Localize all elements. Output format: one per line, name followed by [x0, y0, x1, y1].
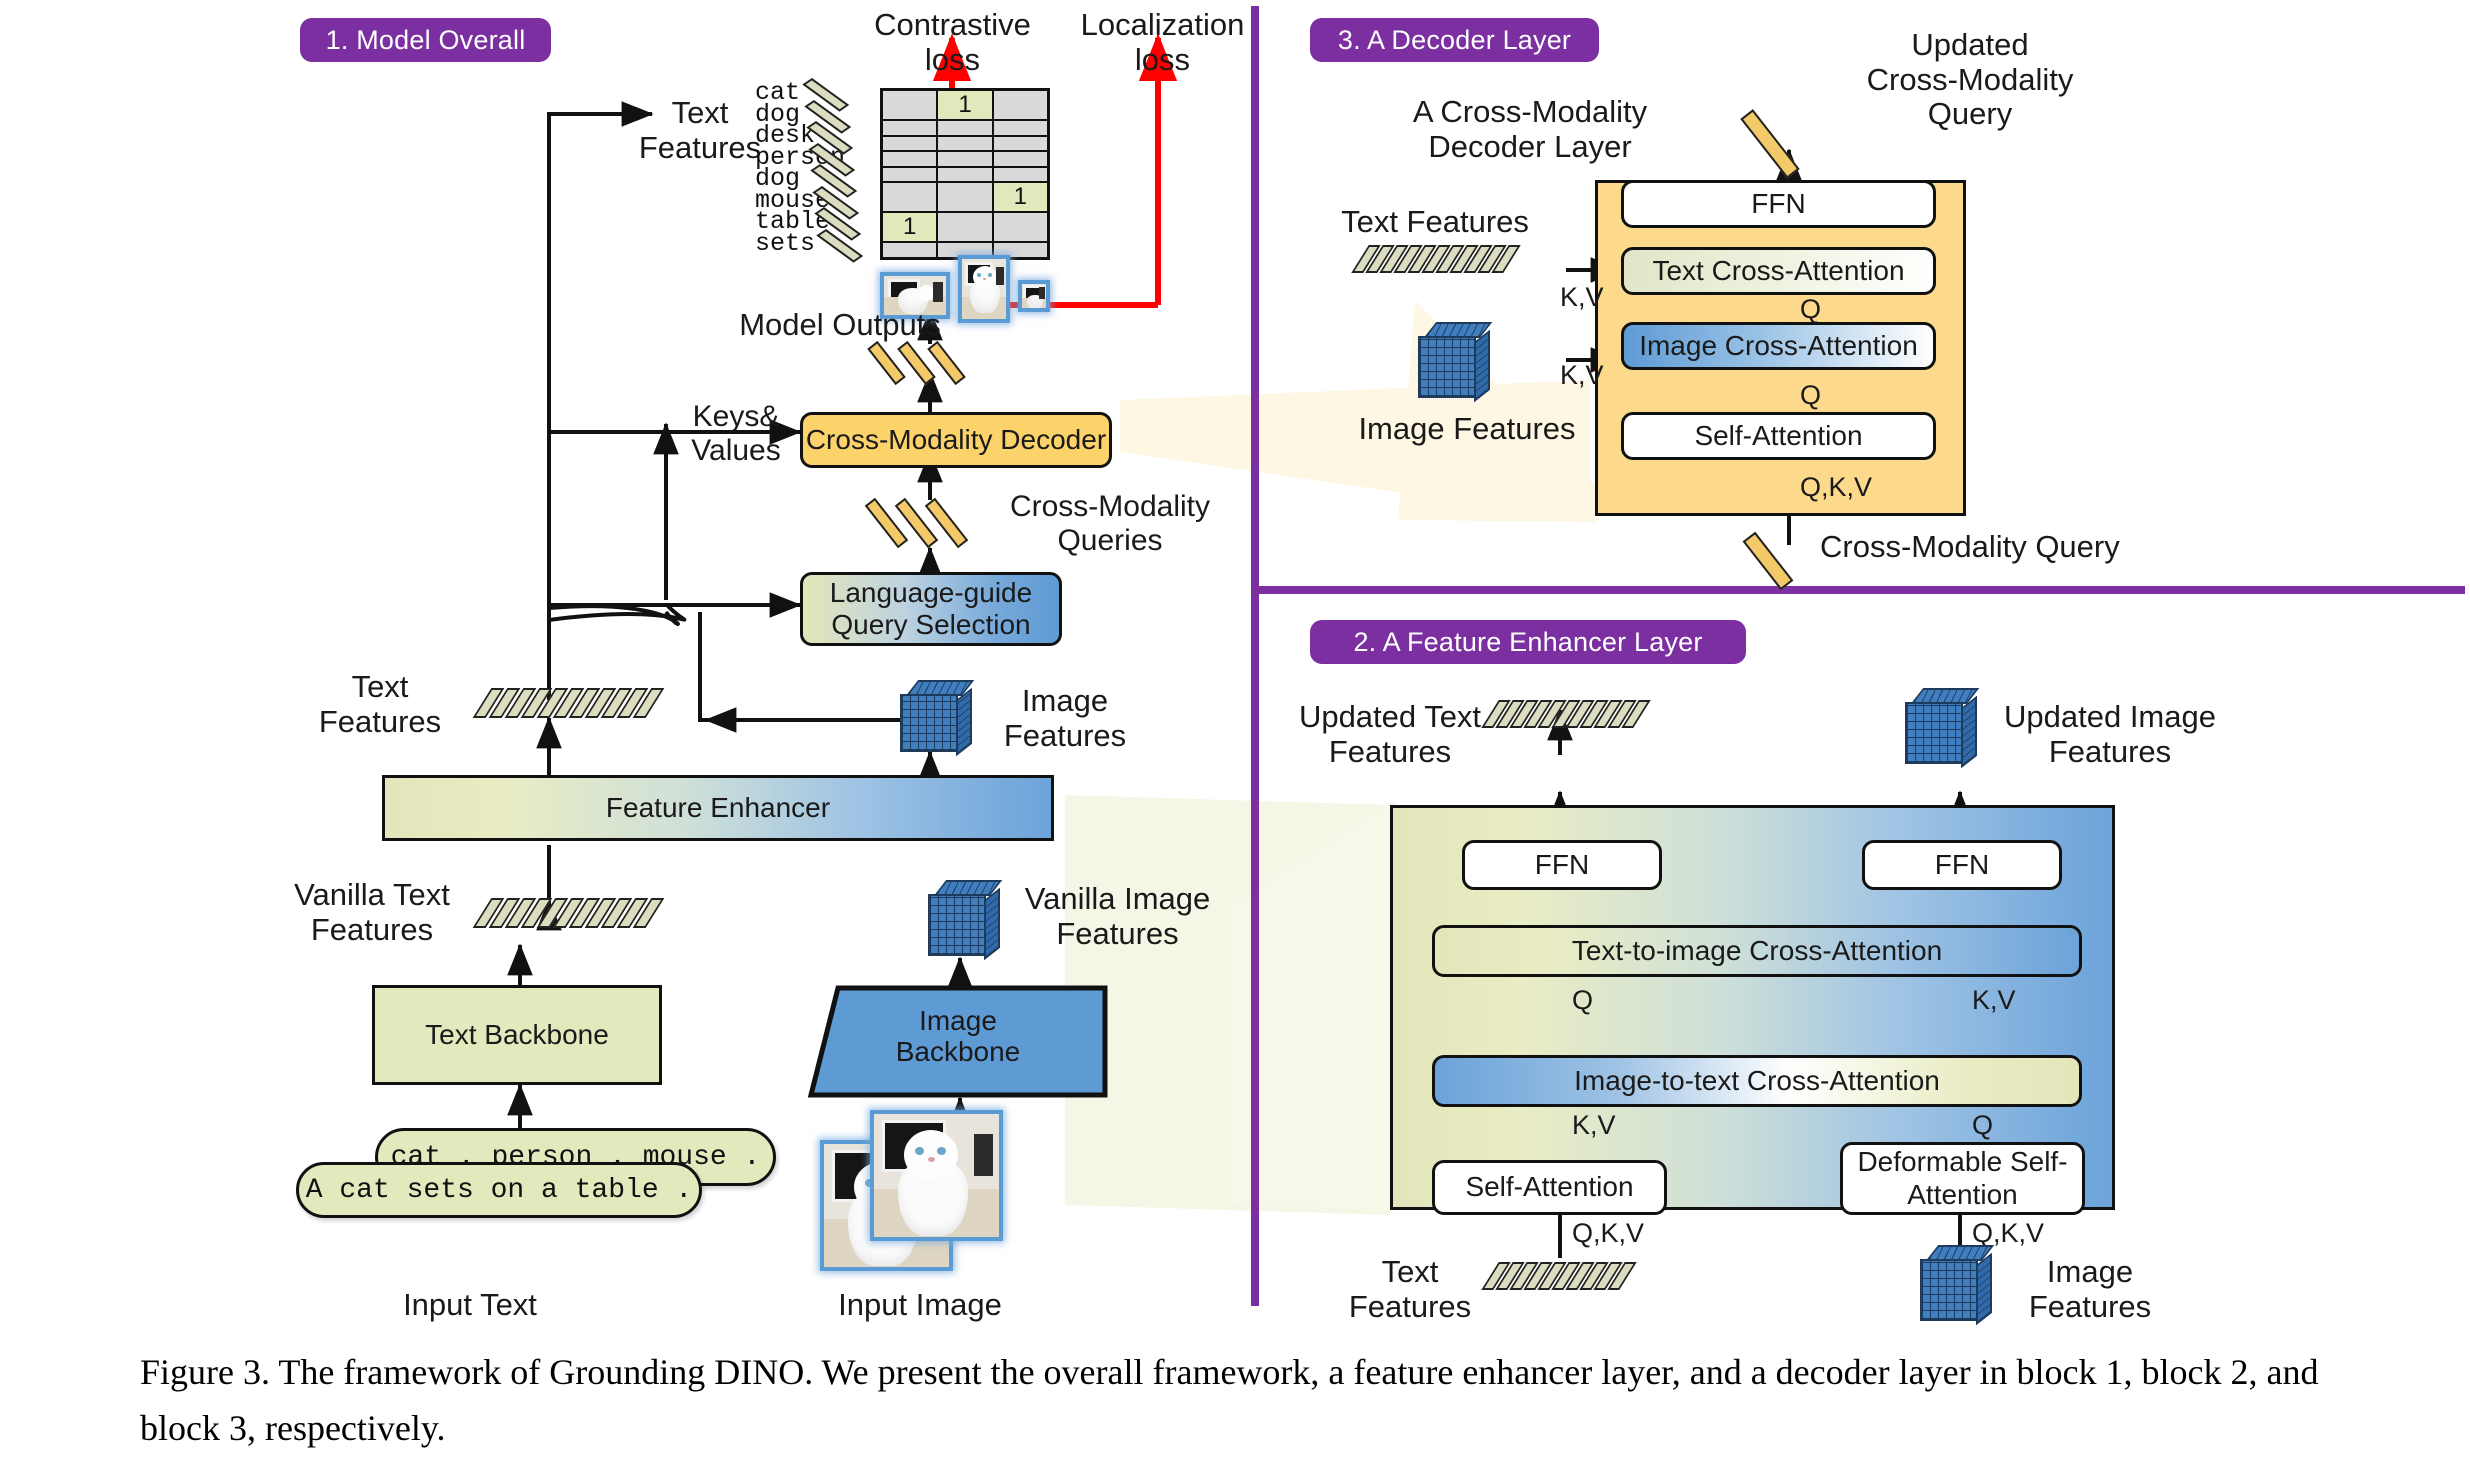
matrix-cell [938, 168, 991, 182]
updated-query-rod [1740, 109, 1799, 179]
vanilla-text-features-glyph [482, 898, 677, 932]
edge-label-q-text: Q [1800, 294, 1840, 324]
label-text-features-mid: Text Features [300, 670, 460, 739]
matrix-cell [994, 91, 1047, 119]
edge-label-qkv-decoder: Q,K,V [1800, 472, 1890, 502]
updated-text-features-glyph [1490, 700, 1660, 732]
image-features-cube-block3 [1418, 322, 1494, 402]
edge-label-q-right: Q [1972, 1110, 2012, 1140]
box-image-to-text-cross-attention[interactable]: Image-to-text Cross-Attention [1432, 1055, 2082, 1107]
label-localization-loss: Localization loss [1055, 8, 1270, 77]
edge-label-kv-text: K,V [1560, 282, 1620, 312]
label-image-backbone: Image Backbone [808, 1005, 1108, 1068]
box-feature-enhancer[interactable]: Feature Enhancer [382, 775, 1054, 841]
chip-block-3: 3. A Decoder Layer [1310, 18, 1599, 62]
label-model-outputs: Model Outputs [710, 308, 970, 343]
text-features-glyph-block3 [1360, 245, 1530, 277]
box-text-to-image-cross-attention[interactable]: Text-to-image Cross-Attention [1432, 925, 2082, 977]
edge-label-q-left: Q [1572, 985, 1612, 1015]
matrix-cell [883, 137, 936, 151]
box-text-backbone[interactable]: Text Backbone [372, 985, 662, 1085]
matrix-cell [938, 183, 991, 211]
vanilla-image-features-cube [928, 880, 1002, 960]
matrix-cell [883, 91, 936, 119]
label-contrastive-loss: Contrastive loss [845, 8, 1060, 77]
edge-label-kv-image: K,V [1560, 360, 1620, 390]
edge-label-kv-left: K,V [1572, 1110, 1642, 1140]
image-features-cube-block2 [1920, 1245, 1996, 1325]
matrix-cell [938, 137, 991, 151]
label-text-features-block3: Text Features [1310, 205, 1560, 240]
box-ffn-right[interactable]: FFN [1862, 840, 2062, 890]
box-self-attention-left[interactable]: Self-Attention [1432, 1160, 1667, 1215]
matrix-cell [994, 121, 1047, 135]
matrix-cell [883, 121, 936, 135]
decoder-output-rods [880, 340, 990, 374]
box-text-cross-attention[interactable]: Text Cross-Attention [1621, 247, 1936, 295]
matrix-cell [883, 152, 936, 166]
matrix-cell: 1 [883, 213, 936, 241]
label-input-image: Input Image [810, 1288, 1030, 1323]
matrix-cell [994, 213, 1047, 241]
updated-image-features-cube [1905, 688, 1981, 768]
pill-input-text-caption[interactable]: A cat sets on a table . [296, 1162, 702, 1218]
text-features-glyph-mid [482, 688, 677, 722]
label-updated-cross-modality-query: Updated Cross-Modality Query [1835, 28, 2105, 132]
label-updated-text-features: Updated Text Features [1280, 700, 1500, 769]
figure-canvas: 1. Model Overall Contrastive loss Locali… [0, 0, 2470, 1447]
image-features-cube-mid [900, 680, 974, 754]
cross-modality-query-rods [880, 496, 990, 548]
label-keys-values: Keys& Values [672, 400, 800, 467]
matrix-cell [994, 137, 1047, 151]
matrix-cell [883, 243, 936, 257]
label-input-text: Input Text [370, 1288, 570, 1323]
label-decoder-layer-title: A Cross-Modality Decoder Layer [1380, 95, 1680, 164]
label-updated-image-features: Updated Image Features [1995, 700, 2225, 769]
edge-label-qkv-left: Q,K,V [1572, 1218, 1672, 1248]
label-image-features-mid: Image Features [985, 684, 1145, 753]
matrix-cell [938, 213, 991, 241]
box-ffn-left[interactable]: FFN [1462, 840, 1662, 890]
similarity-matrix: 111 [880, 88, 1050, 260]
edge-label-qkv-right: Q,K,V [1972, 1218, 2072, 1248]
box-image-backbone[interactable]: Image Backbone [808, 985, 1108, 1098]
chip-block-1: 1. Model Overall [300, 18, 551, 62]
chip-block-2: 2. A Feature Enhancer Layer [1310, 620, 1746, 664]
label-cross-modality-queries: Cross-Modality Queries [1000, 490, 1220, 557]
box-deformable-self-attention[interactable]: Deformable Self-Attention [1840, 1142, 2085, 1215]
matrix-cell [883, 183, 936, 211]
label-vanilla-text-features: Vanilla Text Features [272, 878, 472, 947]
box-decoder-ffn[interactable]: FFN [1621, 180, 1936, 228]
matrix-cell [883, 168, 936, 182]
box-decoder-self-attention[interactable]: Self-Attention [1621, 412, 1936, 460]
matrix-cell [994, 152, 1047, 166]
matrix-cell: 1 [938, 91, 991, 119]
input-image-thumb-front [870, 1110, 1003, 1241]
box-cross-modality-decoder[interactable]: Cross-Modality Decoder [800, 412, 1112, 468]
label-text-features-block2: Text Features [1330, 1255, 1490, 1324]
matrix-cell [938, 121, 991, 135]
figure-caption: Figure 3. The framework of Grounding DIN… [140, 1345, 2390, 1457]
label-image-features-block3: Image Features [1352, 412, 1582, 447]
label-vanilla-image-features: Vanilla Image Features [1010, 882, 1225, 951]
box-image-cross-attention[interactable]: Image Cross-Attention [1621, 322, 1936, 370]
label-image-features-block2: Image Features [2010, 1255, 2170, 1324]
edge-label-q-image: Q [1800, 380, 1840, 410]
matrix-cell [938, 152, 991, 166]
cross-modality-query-rod [1743, 532, 1794, 591]
model-output-thumb-3 [1018, 280, 1050, 312]
edge-label-kv-right: K,V [1972, 985, 2042, 1015]
matrix-cell: 1 [994, 183, 1047, 211]
label-cross-modality-query-block3: Cross-Modality Query [1820, 530, 2150, 565]
matrix-cell [994, 168, 1047, 182]
box-language-guide-query-selection[interactable]: Language-guide Query Selection [800, 572, 1062, 646]
text-features-glyph-block2 [1490, 1262, 1650, 1294]
